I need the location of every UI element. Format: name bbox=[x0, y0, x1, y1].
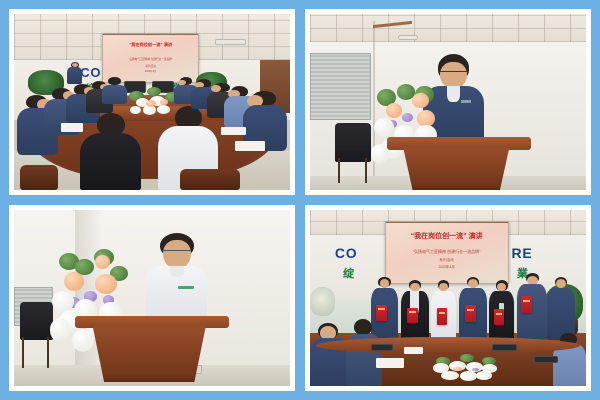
speaker bbox=[146, 233, 207, 325]
awardee-3 bbox=[431, 280, 456, 340]
screen-title: “我在岗位创一流” 演讲 bbox=[103, 42, 198, 48]
attendee-left-5 bbox=[102, 77, 127, 103]
awardee-7 bbox=[547, 277, 575, 340]
certificate-5 bbox=[494, 309, 504, 325]
wall-brand-cn-left: 绽 bbox=[343, 265, 354, 281]
standing-presenter bbox=[66, 62, 83, 85]
certificate-6 bbox=[521, 296, 533, 313]
certificate-3 bbox=[437, 308, 447, 325]
certificate-2 bbox=[407, 308, 418, 324]
photo-cell-top-right[interactable] bbox=[305, 9, 591, 195]
photo-bottom-left bbox=[14, 210, 290, 386]
photo-top-left: CO RE 绽 業 “我在岗位创一流” 演讲 “弘扬电气工匠精神 创建行业一流品… bbox=[14, 14, 290, 190]
photo-cell-top-left[interactable]: CO RE 绽 業 “我在岗位创一流” 演讲 “弘扬电气工匠精神 创建行业一流品… bbox=[9, 9, 295, 195]
podium bbox=[396, 146, 517, 190]
table-bouquet bbox=[431, 354, 503, 386]
podium bbox=[83, 324, 215, 382]
screen-title: “我在岗位创一流” 演讲 bbox=[386, 231, 508, 241]
photo-top-right bbox=[310, 14, 586, 190]
photo-collage: CO RE 绽 業 “我在岗位创一流” 演讲 “弘扬电气工匠精神 创建行业一流品… bbox=[0, 0, 600, 400]
seated-left-1 bbox=[310, 323, 349, 386]
awardee-5 bbox=[489, 280, 514, 340]
side-chair bbox=[335, 123, 371, 162]
attendee-foreground-black bbox=[80, 113, 141, 190]
projection-screen: “我在岗位创一流” 演讲 “弘扬电气工匠精神 创建行业一流品牌” 系列活动 20… bbox=[102, 33, 199, 82]
wall-brand-left: CO bbox=[335, 245, 358, 261]
awardee-6 bbox=[517, 273, 547, 340]
side-chair bbox=[20, 302, 53, 341]
screen-subtitle-3: 2020年4月 bbox=[103, 69, 198, 73]
awardee-4 bbox=[459, 277, 487, 340]
screen-subtitle-2: 系列活动 bbox=[386, 258, 508, 263]
screen-subtitle-3: 2020年4月 bbox=[386, 264, 508, 269]
wall-brand-right: RE bbox=[511, 245, 532, 261]
photo-cell-bottom-right[interactable]: CO RE 绽 業 “我在岗位创一流” 演讲 “弘扬电气工匠精神 创建行业一流品… bbox=[305, 205, 591, 391]
screen-subtitle: “弘扬电气工匠精神 创建行业一流品牌” bbox=[386, 249, 508, 255]
screen-subtitle: “弘扬电气工匠精神 创建行业一流品牌” bbox=[103, 57, 198, 61]
photo-cell-bottom-left[interactable] bbox=[9, 205, 295, 391]
awardee-2 bbox=[401, 280, 429, 340]
screen-subtitle-2: 系列活动 bbox=[103, 64, 198, 68]
certificate-4 bbox=[465, 305, 476, 322]
wall-brand-left: CO bbox=[80, 65, 101, 80]
photo-bottom-right: CO RE 绽 業 “我在岗位创一流” 演讲 “弘扬电气工匠精神 创建行业一流品… bbox=[310, 210, 586, 386]
projection-screen: “我在岗位创一流” 演讲 “弘扬电气工匠精神 创建行业一流品牌” 系列活动 20… bbox=[385, 221, 509, 284]
